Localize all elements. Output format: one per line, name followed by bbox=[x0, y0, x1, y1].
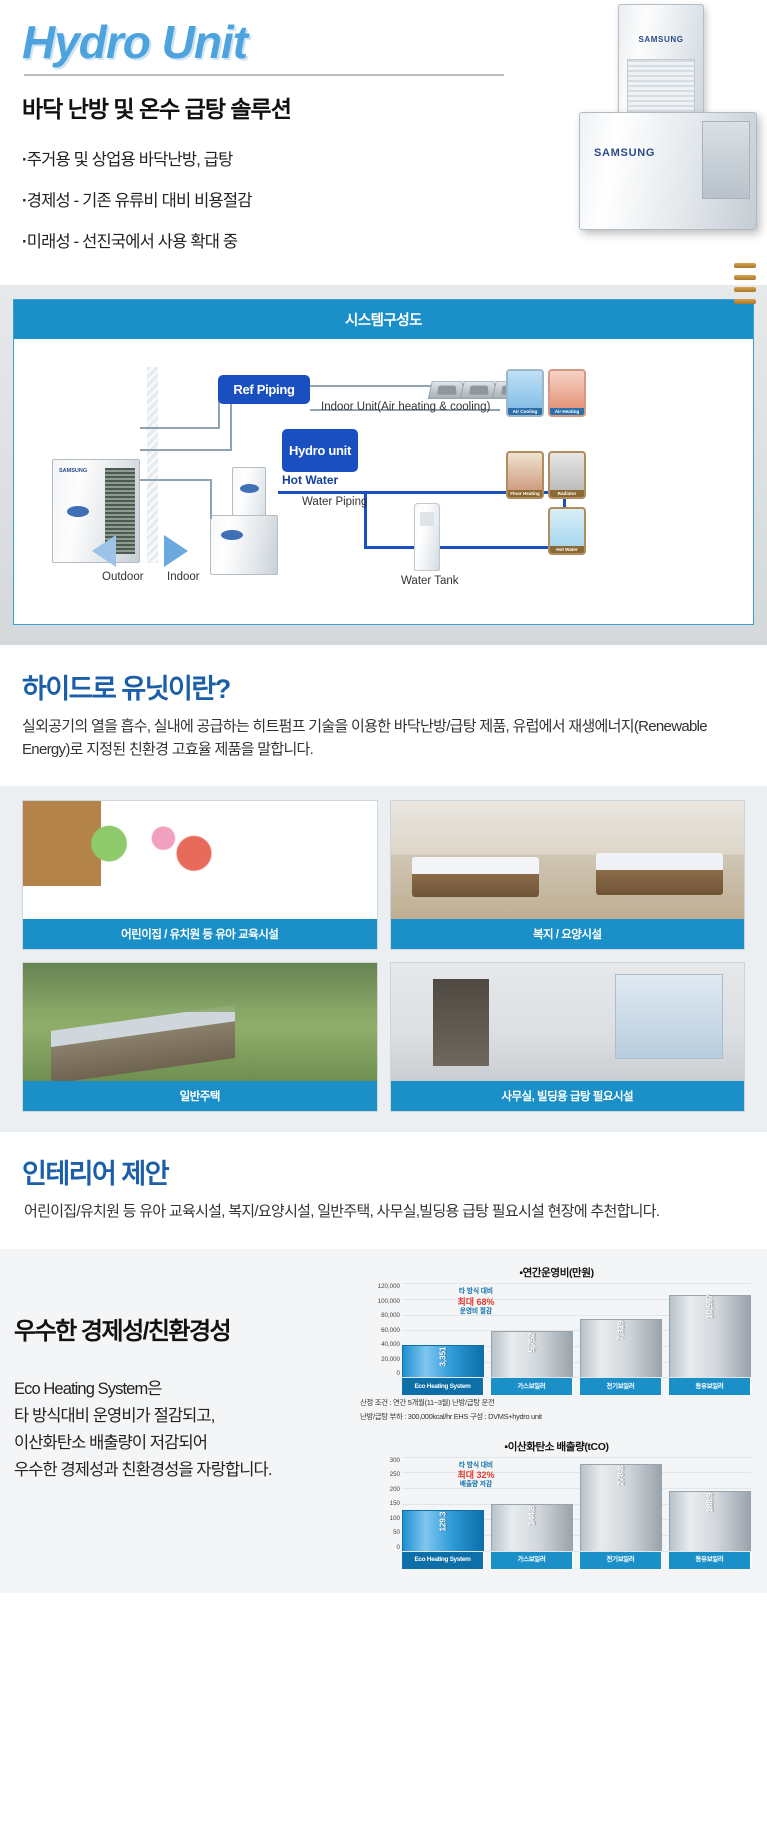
title-divider bbox=[24, 74, 504, 76]
x-label: 전기보일러 bbox=[580, 1552, 662, 1569]
savings-callout: 타 방식 대비 최대 32% 배출량 저감 bbox=[448, 1462, 504, 1490]
house-photo bbox=[23, 963, 377, 1081]
bar-column: 278.8 bbox=[580, 1457, 662, 1551]
gallery-card: 일반주택 bbox=[22, 962, 378, 1112]
callout-line2: 운영비 절감 bbox=[460, 1308, 492, 1315]
bar-eco: 3,351 bbox=[402, 1345, 484, 1377]
indoor-arrow-icon bbox=[164, 535, 188, 567]
brand-oval-icon bbox=[221, 530, 243, 540]
bar-kerosene: 10,597 bbox=[669, 1295, 751, 1378]
system-diagram-box: 시스템구성도 SAMSUNG bbox=[13, 299, 754, 625]
chart-note: 산정 조건 : 연간 5개월(11~3월) 난방/급탕 운전 bbox=[360, 1398, 753, 1409]
hydro-unit-base-icon bbox=[210, 515, 278, 575]
x-label: 가스보일러 bbox=[491, 1378, 573, 1395]
economy-section: 우수한 경제성/친환경성 Eco Heating System은 타 방식대비 … bbox=[0, 1249, 767, 1592]
hot-water-icon: Hot Water bbox=[548, 507, 586, 555]
callout-highlight: 최대 32% bbox=[448, 1470, 504, 1481]
gallery-caption: 복지 / 요양시설 bbox=[391, 919, 745, 949]
diagram-canvas: SAMSUNG Ref Piping Hyd bbox=[14, 339, 753, 624]
gallery-caption: 사무실, 빌딩용 급탕 필요시설 bbox=[391, 1081, 745, 1111]
bar-value: 278.8 bbox=[617, 1466, 626, 1486]
y-tick: 200 bbox=[360, 1486, 400, 1493]
interior-paragraph: 어린이집/유치원 등 유아 교육시설, 복지/요양시설, 일반주택, 사무실,빌… bbox=[24, 1201, 745, 1224]
bar-gas: 144.8 bbox=[491, 1504, 573, 1551]
ref-line bbox=[140, 449, 232, 451]
floor-heating-label: Floor Heating bbox=[508, 490, 542, 497]
y-tick: 50 bbox=[360, 1529, 400, 1536]
y-axis-ticks: 120,000 100,000 80,000 60,000 40,000 20,… bbox=[360, 1283, 400, 1377]
y-tick: 20,000 bbox=[360, 1356, 400, 1363]
ref-line bbox=[140, 427, 220, 429]
y-axis-ticks: 300 250 200 150 100 50 0 bbox=[360, 1457, 400, 1551]
economy-line: Eco Heating System은 bbox=[14, 1376, 350, 1403]
water-piping-label: Water Piping bbox=[302, 496, 367, 508]
pipe-connections-icon bbox=[734, 263, 756, 323]
bar-eco: 129.3 bbox=[402, 1510, 484, 1551]
callout-highlight: 최대 68% bbox=[448, 1297, 504, 1308]
y-tick: 300 bbox=[360, 1457, 400, 1464]
y-tick: 0 bbox=[360, 1370, 400, 1377]
bar-value: 144.8 bbox=[528, 1505, 537, 1525]
samsung-logo: SAMSUNG bbox=[619, 35, 703, 44]
ref-line-vertical bbox=[210, 479, 212, 519]
bar-value: 129.3 bbox=[439, 1511, 448, 1531]
economy-text-block: 우수한 경제성/친환경성 Eco Heating System은 타 방식대비 … bbox=[14, 1265, 350, 1570]
y-tick: 80,000 bbox=[360, 1312, 400, 1319]
economy-line: 타 방식대비 운영비가 절감되고, bbox=[14, 1403, 350, 1430]
interior-suggestion-section: 인테리어 제안 어린이집/유치원 등 유아 교육시설, 복지/요양시설, 일반주… bbox=[0, 1132, 767, 1250]
bar-electric: 7,319 bbox=[580, 1319, 662, 1377]
indoor-label: Indoor bbox=[167, 571, 200, 583]
economy-heading: 우수한 경제성/친환경성 bbox=[14, 1311, 350, 1346]
gallery-caption: 일반주택 bbox=[23, 1081, 377, 1111]
x-label: Eco Heating System bbox=[402, 1552, 484, 1569]
bar-value: 7,319 bbox=[617, 1321, 626, 1341]
brand-oval-icon bbox=[240, 484, 259, 493]
charts-block: 연간운영비(만원) 120,000 100,000 80,000 60,000 … bbox=[360, 1265, 753, 1570]
hot-water-label: Hot Water bbox=[550, 546, 584, 553]
what-is-heading: 하이드로 유닛이란? bbox=[22, 667, 745, 706]
gallery-card: 어린이집 / 유치원 등 유아 교육시설 bbox=[22, 800, 378, 950]
page-header: Hydro Unit 바닥 난방 및 온수 급탕 솔루션 주거용 및 상업용 바… bbox=[0, 0, 767, 285]
bar-value: 3,351 bbox=[439, 1347, 448, 1367]
plot-area: 타 방식 대비 최대 32% 배출량 저감 129.3 144.8 bbox=[402, 1457, 751, 1551]
water-piping-line bbox=[364, 546, 566, 549]
hydro-unit-image: SAMSUNG bbox=[579, 112, 757, 230]
y-tick: 100,000 bbox=[360, 1298, 400, 1305]
x-label: 전기보일러 bbox=[580, 1378, 662, 1395]
water-tank-label: Water Tank bbox=[401, 575, 459, 587]
callout-line2: 배출량 저감 bbox=[460, 1481, 492, 1488]
economy-line: 이산화탄소 배출량이 저감되어 bbox=[14, 1430, 350, 1457]
system-diagram-section: 시스템구성도 SAMSUNG bbox=[0, 285, 767, 645]
bar-value: 5,752 bbox=[528, 1333, 537, 1353]
gallery-grid: 어린이집 / 유치원 등 유아 교육시설 복지 / 요양시설 일반주택 사무실,… bbox=[22, 800, 745, 1112]
outdoor-arrow-icon bbox=[92, 535, 116, 567]
economy-line: 우수한 경제성과 친환경성을 자랑합니다. bbox=[14, 1457, 350, 1484]
y-tick: 100 bbox=[360, 1515, 400, 1522]
chart-title-operating-cost: 연간운영비(만원) bbox=[360, 1265, 753, 1280]
ref-piping-tag: Ref Piping bbox=[218, 375, 310, 404]
y-tick: 120,000 bbox=[360, 1283, 400, 1290]
ref-line bbox=[140, 479, 210, 481]
floor-heating-icon: Floor Heating bbox=[506, 451, 544, 499]
savings-callout: 타 방식 대비 최대 68% 운영비 절감 bbox=[448, 1288, 504, 1316]
x-axis-labels: Eco Heating System 가스보일러 전기보일러 등유보일러 bbox=[402, 1552, 751, 1569]
bar-gas: 5,752 bbox=[491, 1331, 573, 1377]
callout-line1: 타 방식 대비 bbox=[459, 1462, 493, 1469]
bar-column: 10,597 bbox=[669, 1283, 751, 1377]
air-heating-label: Air Heating bbox=[550, 408, 584, 415]
product-photo: SAMSUNG SAMSUNG bbox=[459, 0, 759, 265]
y-tick: 150 bbox=[360, 1500, 400, 1507]
y-tick: 60,000 bbox=[360, 1327, 400, 1334]
hydro-unit-tag: Hydro unit bbox=[282, 429, 358, 472]
air-heating-icon: Air Heating bbox=[548, 369, 586, 417]
chart-title-co2: 이산화탄소 배출량(tCO) bbox=[360, 1439, 753, 1454]
x-label: 가스보일러 bbox=[491, 1552, 573, 1569]
air-cooling-icon: Air Cooling bbox=[506, 369, 544, 417]
gallery-caption: 어린이집 / 유치원 등 유아 교육시설 bbox=[23, 919, 377, 949]
radiator-icon: Radiator bbox=[548, 451, 586, 499]
bar-electric: 278.8 bbox=[580, 1464, 662, 1550]
outdoor-label: Outdoor bbox=[102, 571, 144, 583]
bar-column: 7,319 bbox=[580, 1283, 662, 1377]
radiator-label: Radiator bbox=[550, 490, 584, 497]
y-tick: 0 bbox=[360, 1544, 400, 1551]
care-facility-photo bbox=[391, 801, 745, 919]
bar-value: 10,597 bbox=[706, 1294, 715, 1318]
what-is-paragraph: 실외공기의 열을 흡수, 실내에 공급하는 히트펌프 기술을 이용한 바닥난방/… bbox=[22, 716, 745, 762]
gallery-card: 사무실, 빌딩용 급탕 필요시설 bbox=[390, 962, 746, 1112]
x-label: 등유보일러 bbox=[669, 1378, 751, 1395]
hot-water-label: Hot Water bbox=[282, 473, 338, 487]
bar-kerosene: 188.9 bbox=[669, 1491, 751, 1551]
samsung-logo: SAMSUNG bbox=[59, 468, 87, 474]
water-tank-icon bbox=[414, 503, 440, 571]
interior-heading: 인테리어 제안 bbox=[22, 1152, 745, 1191]
office-photo bbox=[391, 963, 745, 1081]
samsung-logo: SAMSUNG bbox=[594, 147, 655, 159]
x-label: 등유보일러 bbox=[669, 1552, 751, 1569]
operating-cost-chart: 120,000 100,000 80,000 60,000 40,000 20,… bbox=[360, 1283, 753, 1395]
y-tick: 250 bbox=[360, 1471, 400, 1478]
wall-divider-icon bbox=[147, 367, 158, 563]
bar-value: 188.9 bbox=[706, 1492, 715, 1512]
diagram-title: 시스템구성도 bbox=[14, 300, 753, 339]
brand-oval-icon bbox=[67, 506, 89, 517]
plot-area: 타 방식 대비 최대 68% 운영비 절감 3,351 5,752 bbox=[402, 1283, 751, 1377]
x-label: Eco Heating System bbox=[402, 1378, 484, 1395]
indoor-unit-label: Indoor Unit(Air heating & cooling) bbox=[321, 401, 490, 413]
x-axis-labels: Eco Heating System 가스보일러 전기보일러 등유보일러 bbox=[402, 1378, 751, 1395]
chart-note: 난방/급탕 부하 : 300,000kcal/hr EHS 구성 : DVMS+… bbox=[360, 1412, 753, 1423]
gallery-card: 복지 / 요양시설 bbox=[390, 800, 746, 950]
co2-emission-chart: 300 250 200 150 100 50 0 타 방식 대비 최대 32% bbox=[360, 1457, 753, 1569]
application-gallery-section: 어린이집 / 유치원 등 유아 교육시설 복지 / 요양시설 일반주택 사무실,… bbox=[0, 786, 767, 1132]
y-tick: 40,000 bbox=[360, 1341, 400, 1348]
daycare-photo bbox=[23, 801, 377, 919]
bar-column: 188.9 bbox=[669, 1457, 751, 1551]
what-is-section: 하이드로 유닛이란? 실외공기의 열을 흡수, 실내에 공급하는 히트펌프 기술… bbox=[0, 645, 767, 786]
air-cooling-label: Air Cooling bbox=[508, 408, 542, 415]
callout-line1: 타 방식 대비 bbox=[459, 1288, 493, 1295]
